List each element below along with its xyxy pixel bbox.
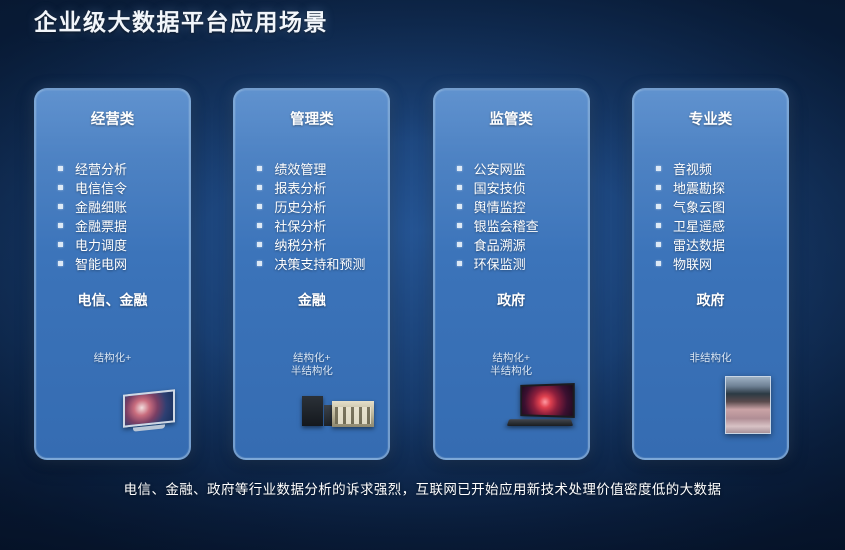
- list-item: 经营分析: [36, 160, 189, 179]
- square-bullet-icon: [58, 185, 63, 190]
- building-columns: [335, 407, 371, 424]
- list-item-label: 经营分析: [75, 160, 127, 179]
- list-item-label: 电信信令: [75, 179, 127, 198]
- scenario-card-supervision[interactable]: 监管类 公安网监 国安技侦 舆情监控 银监会稽查: [433, 88, 590, 460]
- list-item-label: 国安技侦: [474, 179, 526, 198]
- server-building-icon: [300, 390, 374, 430]
- scenario-card-operations[interactable]: 经营类 经营分析 电信信令 金融细账 金融票据: [34, 88, 191, 460]
- list-item-label: 社保分析: [274, 217, 326, 236]
- list-item: 舆情监控: [435, 198, 588, 217]
- slide-canvas: 企业级大数据平台应用场景 经营类 经营分析 电信信令 金融细账: [0, 0, 845, 550]
- list-item: 雷达数据: [634, 236, 787, 255]
- list-item: 物联网: [634, 255, 787, 274]
- card-title: 经营类: [36, 108, 189, 129]
- list-item-label: 银监会稽查: [474, 217, 539, 236]
- scenario-card-row: 经营类 经营分析 电信信令 金融细账 金融票据: [34, 88, 789, 460]
- laptop-screen: [520, 383, 575, 418]
- square-bullet-icon: [58, 204, 63, 209]
- card-title: 专业类: [634, 108, 787, 129]
- square-bullet-icon: [58, 261, 63, 266]
- list-item: 绩效管理: [235, 160, 388, 179]
- list-item-label: 纳税分析: [274, 236, 326, 255]
- list-item-label: 金融细账: [75, 198, 127, 217]
- list-item: 智能电网: [36, 255, 189, 274]
- list-item: 环保监测: [435, 255, 588, 274]
- square-bullet-icon: [257, 185, 262, 190]
- list-item-label: 食品溯源: [474, 236, 526, 255]
- list-item-label: 环保监测: [474, 255, 526, 274]
- list-item: 国安技侦: [435, 179, 588, 198]
- satellite-terrain-photo-icon: [725, 376, 771, 434]
- card-structure-label: 结构化+半结构化: [235, 352, 388, 378]
- square-bullet-icon: [656, 185, 661, 190]
- monitor-screen: [123, 389, 175, 427]
- square-bullet-icon: [457, 261, 462, 266]
- card-item-list: 经营分析 电信信令 金融细账 金融票据 电力调度: [36, 160, 189, 274]
- laptop-keyboard: [506, 419, 572, 426]
- list-item-label: 决策支持和预测: [274, 255, 365, 274]
- list-item: 电力调度: [36, 236, 189, 255]
- monitor-display-icon: [123, 389, 175, 432]
- card-structure-label: 非结构化: [634, 352, 787, 365]
- list-item-label: 舆情监控: [474, 198, 526, 217]
- square-bullet-icon: [457, 223, 462, 228]
- square-bullet-icon: [257, 204, 262, 209]
- list-item-label: 气象云图: [673, 198, 725, 217]
- list-item: 金融细账: [36, 198, 189, 217]
- list-item: 银监会稽查: [435, 217, 588, 236]
- square-bullet-icon: [656, 223, 661, 228]
- square-bullet-icon: [656, 261, 661, 266]
- card-industry-label: 金融: [235, 290, 388, 310]
- card-structure-label: 结构化+: [36, 352, 189, 365]
- square-bullet-icon: [457, 204, 462, 209]
- page-title: 企业级大数据平台应用场景: [34, 3, 328, 37]
- list-item: 食品溯源: [435, 236, 588, 255]
- square-bullet-icon: [656, 166, 661, 171]
- square-bullet-icon: [58, 242, 63, 247]
- list-item-label: 电力调度: [75, 236, 127, 255]
- square-bullet-icon: [257, 223, 262, 228]
- square-bullet-icon: [257, 261, 262, 266]
- card-item-list: 音视频 地震勘探 气象云图 卫星遥感 雷达数据: [634, 160, 787, 274]
- square-bullet-icon: [656, 204, 661, 209]
- card-item-list: 绩效管理 报表分析 历史分析 社保分析 纳税分析: [235, 160, 388, 274]
- list-item: 公安网监: [435, 160, 588, 179]
- list-item: 决策支持和预测: [235, 255, 388, 274]
- list-item-label: 音视频: [673, 160, 712, 179]
- list-item: 报表分析: [235, 179, 388, 198]
- server-rack: [302, 396, 323, 426]
- list-item-label: 绩效管理: [274, 160, 326, 179]
- card-item-list: 公安网监 国安技侦 舆情监控 银监会稽查 食品溯源: [435, 160, 588, 274]
- list-item-label: 卫星遥感: [673, 217, 725, 236]
- square-bullet-icon: [457, 166, 462, 171]
- card-title: 监管类: [435, 108, 588, 129]
- list-item-label: 历史分析: [274, 198, 326, 217]
- scenario-card-specialized[interactable]: 专业类 音视频 地震勘探 气象云图 卫星遥感: [632, 88, 789, 460]
- list-item-label: 物联网: [673, 255, 712, 274]
- square-bullet-icon: [58, 166, 63, 171]
- list-item: 金融票据: [36, 217, 189, 236]
- square-bullet-icon: [457, 185, 462, 190]
- list-item-label: 公安网监: [474, 160, 526, 179]
- list-item: 电信信令: [36, 179, 189, 198]
- list-item-label: 雷达数据: [673, 236, 725, 255]
- list-item: 音视频: [634, 160, 787, 179]
- list-item-label: 报表分析: [274, 179, 326, 198]
- list-item: 纳税分析: [235, 236, 388, 255]
- card-structure-label: 结构化+半结构化: [435, 352, 588, 378]
- square-bullet-icon: [257, 242, 262, 247]
- card-industry-label: 电信、金融: [36, 290, 189, 310]
- laptop-icon: [508, 384, 574, 430]
- square-bullet-icon: [257, 166, 262, 171]
- card-industry-label: 政府: [435, 290, 588, 310]
- list-item: 卫星遥感: [634, 217, 787, 236]
- list-item: 地震勘探: [634, 179, 787, 198]
- square-bullet-icon: [457, 242, 462, 247]
- list-item: 社保分析: [235, 217, 388, 236]
- square-bullet-icon: [58, 223, 63, 228]
- list-item-label: 智能电网: [75, 255, 127, 274]
- scenario-card-management[interactable]: 管理类 绩效管理 报表分析 历史分析 社保分析: [233, 88, 390, 460]
- summary-caption: 电信、金融、政府等行业数据分析的诉求强烈，互联网已开始应用新技术处理价值密度低的…: [0, 478, 845, 498]
- list-item: 气象云图: [634, 198, 787, 217]
- card-industry-label: 政府: [634, 290, 787, 310]
- list-item-label: 金融票据: [75, 217, 127, 236]
- card-title: 管理类: [235, 108, 388, 129]
- list-item: 历史分析: [235, 198, 388, 217]
- building-shape: [332, 401, 374, 427]
- list-item-label: 地震勘探: [673, 179, 725, 198]
- square-bullet-icon: [656, 242, 661, 247]
